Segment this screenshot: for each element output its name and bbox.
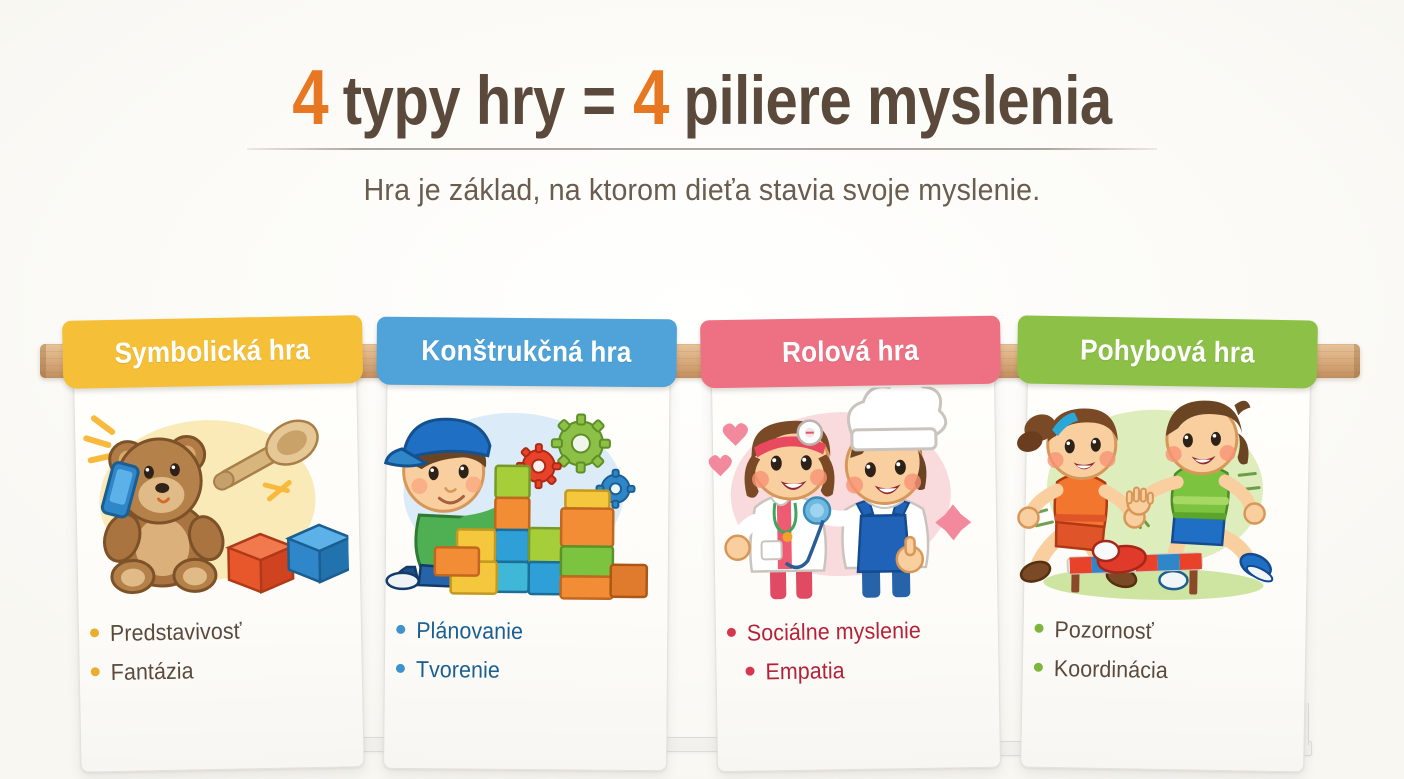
card-banner: Symbolická hra: [62, 315, 363, 389]
bullet-dot-icon: [396, 664, 405, 673]
bullet-dot-icon: [1034, 663, 1043, 672]
bullet-label: Koordinácia: [1054, 655, 1168, 684]
illustration-teddy-bear-phone-spoon-blocks: [63, 385, 349, 605]
list-item: Tvorenie: [396, 656, 646, 685]
bullet-label: Tvorenie: [416, 656, 500, 684]
bullet-dot-icon: [1034, 624, 1043, 633]
bullet-label: Empatia: [765, 657, 845, 685]
card-rolova-hra[interactable]: Rolová hra: [700, 316, 1000, 321]
list-item: Predstavivosť: [90, 616, 340, 648]
list-item: Empatia: [727, 655, 977, 686]
card-bullet-list: Predstavivosť Fantázia: [90, 616, 341, 699]
bullet-label: Fantázia: [111, 657, 194, 686]
bullet-dot-icon: [745, 667, 754, 676]
card-title: Symbolická hra: [115, 334, 311, 371]
illustration-two-children-running-hurdle: [1013, 385, 1299, 605]
card-title: Rolová hra: [782, 334, 919, 369]
card-pohybova-hra[interactable]: Pohybová hra: [1018, 315, 1318, 320]
bullet-dot-icon: [727, 628, 736, 637]
list-item: Sociálne myslenie: [727, 616, 977, 647]
illustration-boy-building-blocks-gears: [375, 387, 659, 604]
card-banner: Pohybová hra: [1017, 315, 1318, 388]
list-item: Plánovanie: [396, 617, 646, 646]
card-symbolicka-hra[interactable]: Symbolická hra: [62, 315, 362, 321]
infographic-canvas: 4 typy hry = 4 piliere myslenia Hra je z…: [0, 0, 1404, 779]
card-bullet-list: Plánovanie Tvorenie: [396, 617, 647, 697]
card-banner: Rolová hra: [700, 316, 1001, 389]
list-item: Pozornosť: [1034, 616, 1284, 647]
illustration-doctor-girl-chef-boy: [701, 386, 986, 605]
card-banner: Konštrukčná hra: [376, 317, 677, 388]
bullet-dot-icon: [396, 625, 405, 634]
card-title: Pohybová hra: [1080, 334, 1255, 370]
bullet-dot-icon: [90, 628, 99, 637]
card-konstrukcna-hra[interactable]: Konštrukčná hra: [377, 317, 677, 320]
card-list: Symbolická hra: [0, 0, 1404, 779]
bullet-label: Pozornosť: [1054, 616, 1154, 645]
bullet-dot-icon: [91, 667, 100, 676]
card-title: Konštrukčná hra: [422, 335, 632, 370]
list-item: Koordinácia: [1034, 655, 1284, 686]
card-bullet-list: Sociálne myslenie Empatia: [727, 616, 978, 698]
list-item: Fantázia: [91, 655, 341, 687]
bullet-label: Sociálne myslenie: [747, 617, 921, 647]
bullet-label: Plánovanie: [416, 617, 523, 645]
bullet-label: Predstavivosť: [110, 617, 242, 647]
card-bullet-list: Pozornosť Koordinácia: [1033, 616, 1284, 698]
